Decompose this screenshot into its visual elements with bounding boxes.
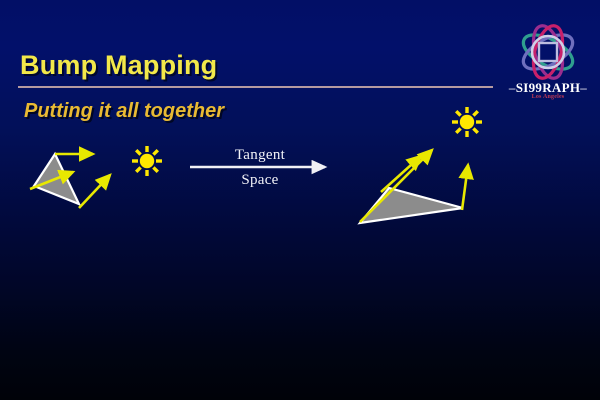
tangent-space-diagram bbox=[360, 107, 482, 223]
right-triangle-surface bbox=[360, 188, 463, 223]
wordmark-dash-left: – bbox=[509, 80, 516, 95]
right-normal-vector bbox=[381, 156, 421, 192]
slide-bump-mapping: Bump Mapping Putting it all together –SI… bbox=[0, 0, 600, 400]
title-divider bbox=[18, 86, 493, 88]
wordmark-dash-right: – bbox=[580, 80, 587, 95]
left-normal-vector bbox=[30, 172, 73, 189]
page-subtitle: Putting it all together bbox=[24, 100, 224, 123]
left-triangle-surface bbox=[34, 154, 79, 204]
page-title: Bump Mapping bbox=[20, 50, 217, 81]
left-light-vector bbox=[79, 175, 110, 208]
siggraph-location-label: Los Angeles bbox=[500, 94, 596, 100]
transition-label-line1: Tangent bbox=[190, 147, 330, 164]
right-up-vector bbox=[462, 165, 468, 210]
object-space-diagram bbox=[30, 146, 162, 208]
wordmark-text: SI99RAPH bbox=[516, 80, 581, 95]
right-light-vector bbox=[360, 150, 432, 222]
right-light-source-icon bbox=[452, 107, 482, 137]
transition-label-line2: Space bbox=[190, 172, 330, 189]
left-light-source-icon bbox=[132, 146, 162, 176]
